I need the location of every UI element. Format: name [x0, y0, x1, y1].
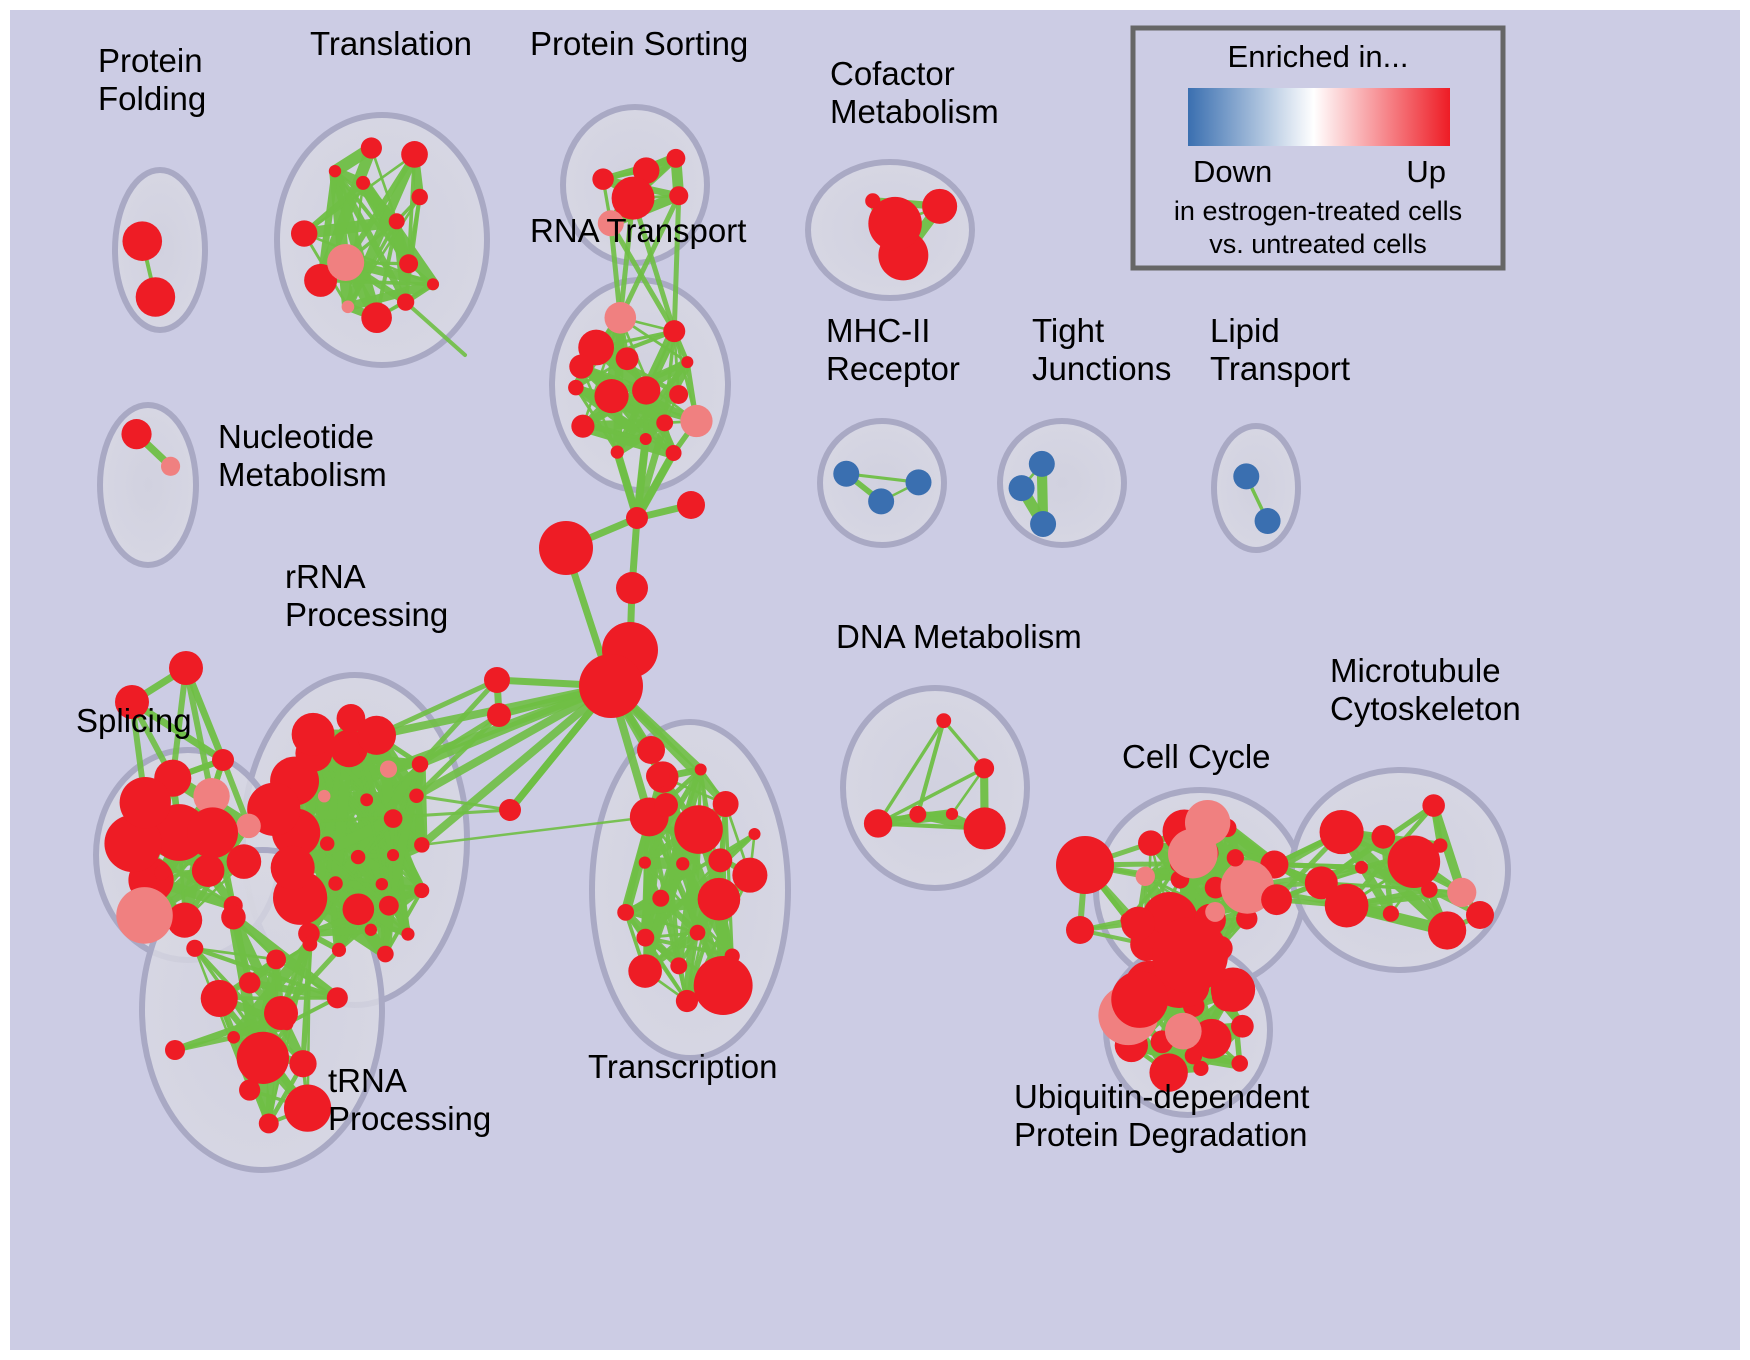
network-node[interactable] — [212, 749, 234, 771]
network-node[interactable] — [236, 814, 260, 838]
network-node[interactable] — [327, 987, 348, 1008]
network-node[interactable] — [640, 433, 652, 445]
network-node[interactable] — [1325, 884, 1369, 928]
network-node[interactable] — [922, 189, 957, 224]
network-node[interactable] — [1030, 511, 1056, 537]
network-node[interactable] — [1066, 916, 1094, 944]
cluster-label: Protein — [98, 42, 203, 79]
network-node[interactable] — [1165, 1013, 1202, 1050]
network-node[interactable] — [674, 805, 723, 854]
network-node[interactable] — [120, 777, 171, 828]
cluster-label: Cofactor — [830, 55, 955, 92]
network-node[interactable] — [749, 828, 761, 840]
cluster-label: RNA Transport — [530, 212, 746, 249]
network-node[interactable] — [327, 244, 364, 281]
network-node[interactable] — [909, 806, 926, 823]
network-node[interactable] — [1433, 838, 1447, 852]
network-node[interactable] — [669, 186, 688, 205]
network-node[interactable] — [964, 807, 1006, 849]
network-node[interactable] — [397, 293, 414, 310]
network-node[interactable] — [427, 278, 439, 290]
network-node[interactable] — [865, 193, 880, 208]
network-node[interactable] — [401, 141, 428, 168]
legend: Enriched in... Down Up in estrogen-treat… — [1133, 28, 1503, 268]
network-node[interactable] — [122, 221, 162, 261]
network-node[interactable] — [387, 849, 399, 861]
network-node[interactable] — [1185, 1047, 1203, 1065]
network-node[interactable] — [186, 940, 203, 957]
network-node[interactable] — [484, 667, 510, 693]
network-node[interactable] — [571, 415, 594, 438]
network-node[interactable] — [594, 379, 628, 413]
network-node[interactable] — [616, 572, 648, 604]
network-node[interactable] — [666, 149, 685, 168]
network-node[interactable] — [328, 876, 342, 890]
network-node[interactable] — [337, 704, 366, 733]
network-node[interactable] — [1355, 861, 1368, 874]
network-node[interactable] — [227, 844, 262, 879]
network-node[interactable] — [412, 756, 429, 773]
network-node[interactable] — [1205, 902, 1225, 922]
network-node[interactable] — [1152, 917, 1228, 993]
network-node[interactable] — [187, 807, 238, 858]
cluster-label: rRNA — [285, 558, 366, 595]
cluster-label: Protein Sorting — [530, 25, 748, 62]
cluster-label: Transcription — [588, 1048, 778, 1085]
network-node[interactable] — [1138, 830, 1163, 855]
figure-canvas: ProteinFoldingTranslationProtein Sorting… — [0, 0, 1750, 1360]
cluster-label: Tight — [1032, 312, 1104, 349]
network-node[interactable] — [377, 946, 394, 963]
network-node[interactable] — [154, 865, 169, 880]
cluster-hull — [843, 688, 1027, 888]
network-node[interactable] — [414, 883, 429, 898]
cluster-label: Metabolism — [830, 93, 999, 130]
network-node[interactable] — [677, 491, 705, 519]
network-node[interactable] — [116, 887, 173, 944]
network-node[interactable] — [1267, 857, 1282, 872]
network-node[interactable] — [632, 376, 660, 404]
network-node[interactable] — [1320, 810, 1364, 854]
network-plot-area: ProteinFoldingTranslationProtein Sorting… — [10, 10, 1740, 1350]
network-node[interactable] — [302, 937, 317, 952]
network-node[interactable] — [868, 488, 894, 514]
network-node[interactable] — [1466, 901, 1494, 929]
network-node[interactable] — [351, 850, 365, 864]
cluster-label: Translation — [310, 25, 472, 62]
network-node[interactable] — [670, 957, 687, 974]
network-node[interactable] — [604, 302, 636, 334]
network-node[interactable] — [592, 168, 613, 189]
network-node[interactable] — [539, 521, 593, 575]
network-node[interactable] — [936, 713, 951, 728]
network-node[interactable] — [165, 1040, 185, 1060]
network-node[interactable] — [626, 507, 648, 529]
network-node[interactable] — [1168, 829, 1218, 879]
network-node[interactable] — [654, 793, 678, 817]
network-node[interactable] — [365, 924, 377, 936]
network-node[interactable] — [360, 793, 373, 806]
cluster-label: Processing — [285, 596, 448, 633]
legend-subtitle-line2: vs. untreated cells — [1209, 229, 1427, 259]
cluster-label: Transport — [1210, 350, 1350, 387]
network-node[interactable] — [289, 1050, 316, 1077]
network-node[interactable] — [905, 469, 931, 495]
network-node[interactable] — [487, 703, 511, 727]
network-node[interactable] — [169, 651, 203, 685]
network-node[interactable] — [1136, 867, 1155, 886]
network-node[interactable] — [237, 1032, 289, 1084]
network-node[interactable] — [628, 954, 662, 988]
network-node[interactable] — [380, 761, 397, 778]
network-node[interactable] — [656, 414, 673, 431]
cluster-label: Receptor — [826, 350, 960, 387]
network-node[interactable] — [379, 896, 399, 916]
network-node[interactable] — [1029, 451, 1055, 477]
network-node[interactable] — [361, 137, 382, 158]
cluster-label: Processing — [328, 1100, 491, 1137]
network-node[interactable] — [637, 736, 665, 764]
network-node[interactable] — [946, 808, 958, 820]
legend-title: Enriched in... — [1228, 39, 1409, 74]
legend-up-label: Up — [1406, 154, 1446, 189]
network-svg: ProteinFoldingTranslationProtein Sorting… — [10, 10, 1740, 1350]
network-node[interactable] — [291, 220, 317, 246]
network-node[interactable] — [259, 1113, 279, 1133]
network-node[interactable] — [1212, 979, 1244, 1011]
network-node[interactable] — [694, 956, 753, 1015]
network-node[interactable] — [1111, 971, 1168, 1028]
network-node[interactable] — [1231, 1015, 1254, 1038]
network-node[interactable] — [579, 654, 643, 718]
cluster-label: Ubiquitin-dependent — [1014, 1078, 1309, 1115]
network-node[interactable] — [292, 713, 335, 756]
network-node[interactable] — [676, 990, 698, 1012]
network-node[interactable] — [1227, 849, 1244, 866]
cluster-label: Junctions — [1032, 350, 1171, 387]
network-node[interactable] — [698, 878, 741, 921]
network-node[interactable] — [833, 461, 859, 487]
network-node[interactable] — [329, 165, 341, 177]
legend-gradient-bar — [1188, 88, 1450, 146]
cluster-label: Splicing — [76, 702, 192, 739]
network-node[interactable] — [284, 1085, 331, 1132]
network-node[interactable] — [1261, 884, 1292, 915]
network-node[interactable] — [499, 799, 521, 821]
network-node[interactable] — [361, 302, 392, 333]
cluster-label: Microtubule — [1330, 652, 1501, 689]
network-node[interactable] — [1422, 794, 1445, 817]
network-node[interactable] — [271, 846, 315, 890]
network-node[interactable] — [676, 857, 689, 870]
network-node[interactable] — [389, 213, 405, 229]
cluster-label: Folding — [98, 80, 206, 117]
network-node[interactable] — [411, 189, 427, 205]
network-node[interactable] — [332, 943, 346, 957]
network-node[interactable] — [1009, 475, 1035, 501]
network-node[interactable] — [616, 347, 639, 370]
network-node[interactable] — [732, 858, 767, 893]
network-node[interactable] — [864, 809, 892, 837]
cluster-label: tRNA — [328, 1062, 407, 1099]
legend-down-label: Down — [1193, 154, 1272, 189]
network-node[interactable] — [239, 972, 260, 993]
network-node[interactable] — [695, 764, 707, 776]
network-node[interactable] — [264, 996, 298, 1030]
network-node[interactable] — [690, 925, 706, 941]
cluster-label: Protein Degradation — [1014, 1116, 1308, 1153]
network-node[interactable] — [1233, 463, 1259, 489]
network-node[interactable] — [669, 385, 688, 404]
network-node[interactable] — [221, 905, 245, 929]
network-node[interactable] — [1255, 508, 1281, 534]
network-node[interactable] — [1121, 907, 1155, 941]
network-node[interactable] — [227, 1031, 240, 1044]
network-node[interactable] — [161, 457, 180, 476]
network-node[interactable] — [680, 405, 712, 437]
network-node[interactable] — [356, 176, 370, 190]
cluster-label: Cell Cycle — [1122, 738, 1271, 775]
network-node[interactable] — [1371, 825, 1395, 849]
cluster-label: MHC-II — [826, 312, 930, 349]
network-node[interactable] — [1383, 906, 1399, 922]
network-node[interactable] — [663, 320, 685, 342]
network-node[interactable] — [713, 791, 739, 817]
cluster-hull — [1214, 426, 1298, 550]
network-node[interactable] — [343, 893, 375, 925]
network-node[interactable] — [384, 809, 403, 828]
network-node[interactable] — [681, 356, 693, 368]
network-node[interactable] — [639, 856, 651, 868]
cluster-label: Metabolism — [218, 456, 387, 493]
network-node[interactable] — [409, 788, 424, 803]
network-node[interactable] — [666, 445, 682, 461]
network-node[interactable] — [342, 300, 355, 313]
cluster-label: Cytoskeleton — [1330, 690, 1521, 727]
network-node[interactable] — [636, 929, 654, 947]
cluster-label: Nucleotide — [218, 418, 374, 455]
network-node[interactable] — [1388, 835, 1441, 888]
cluster-label: Lipid — [1210, 312, 1280, 349]
network-node[interactable] — [708, 848, 732, 872]
network-node[interactable] — [1447, 878, 1476, 907]
network-node[interactable] — [318, 790, 331, 803]
network-node[interactable] — [201, 980, 238, 1017]
cluster-label: DNA Metabolism — [836, 618, 1082, 655]
network-node[interactable] — [568, 380, 584, 396]
network-node[interactable] — [1056, 836, 1114, 894]
network-node[interactable] — [652, 890, 669, 907]
network-node[interactable] — [414, 837, 429, 852]
network-node[interactable] — [974, 758, 994, 778]
network-node[interactable] — [136, 277, 176, 317]
network-node[interactable] — [569, 355, 593, 379]
network-node[interactable] — [266, 949, 286, 969]
network-node[interactable] — [617, 904, 634, 921]
network-node[interactable] — [611, 445, 624, 458]
network-node[interactable] — [376, 878, 388, 890]
network-node[interactable] — [401, 928, 414, 941]
network-node[interactable] — [646, 764, 670, 788]
legend-subtitle-line1: in estrogen-treated cells — [1174, 196, 1462, 226]
network-node[interactable] — [121, 419, 151, 449]
network-node[interactable] — [192, 854, 225, 887]
network-node[interactable] — [1428, 911, 1466, 949]
network-node[interactable] — [320, 836, 334, 850]
network-node[interactable] — [1231, 1055, 1248, 1072]
network-node[interactable] — [399, 254, 418, 273]
